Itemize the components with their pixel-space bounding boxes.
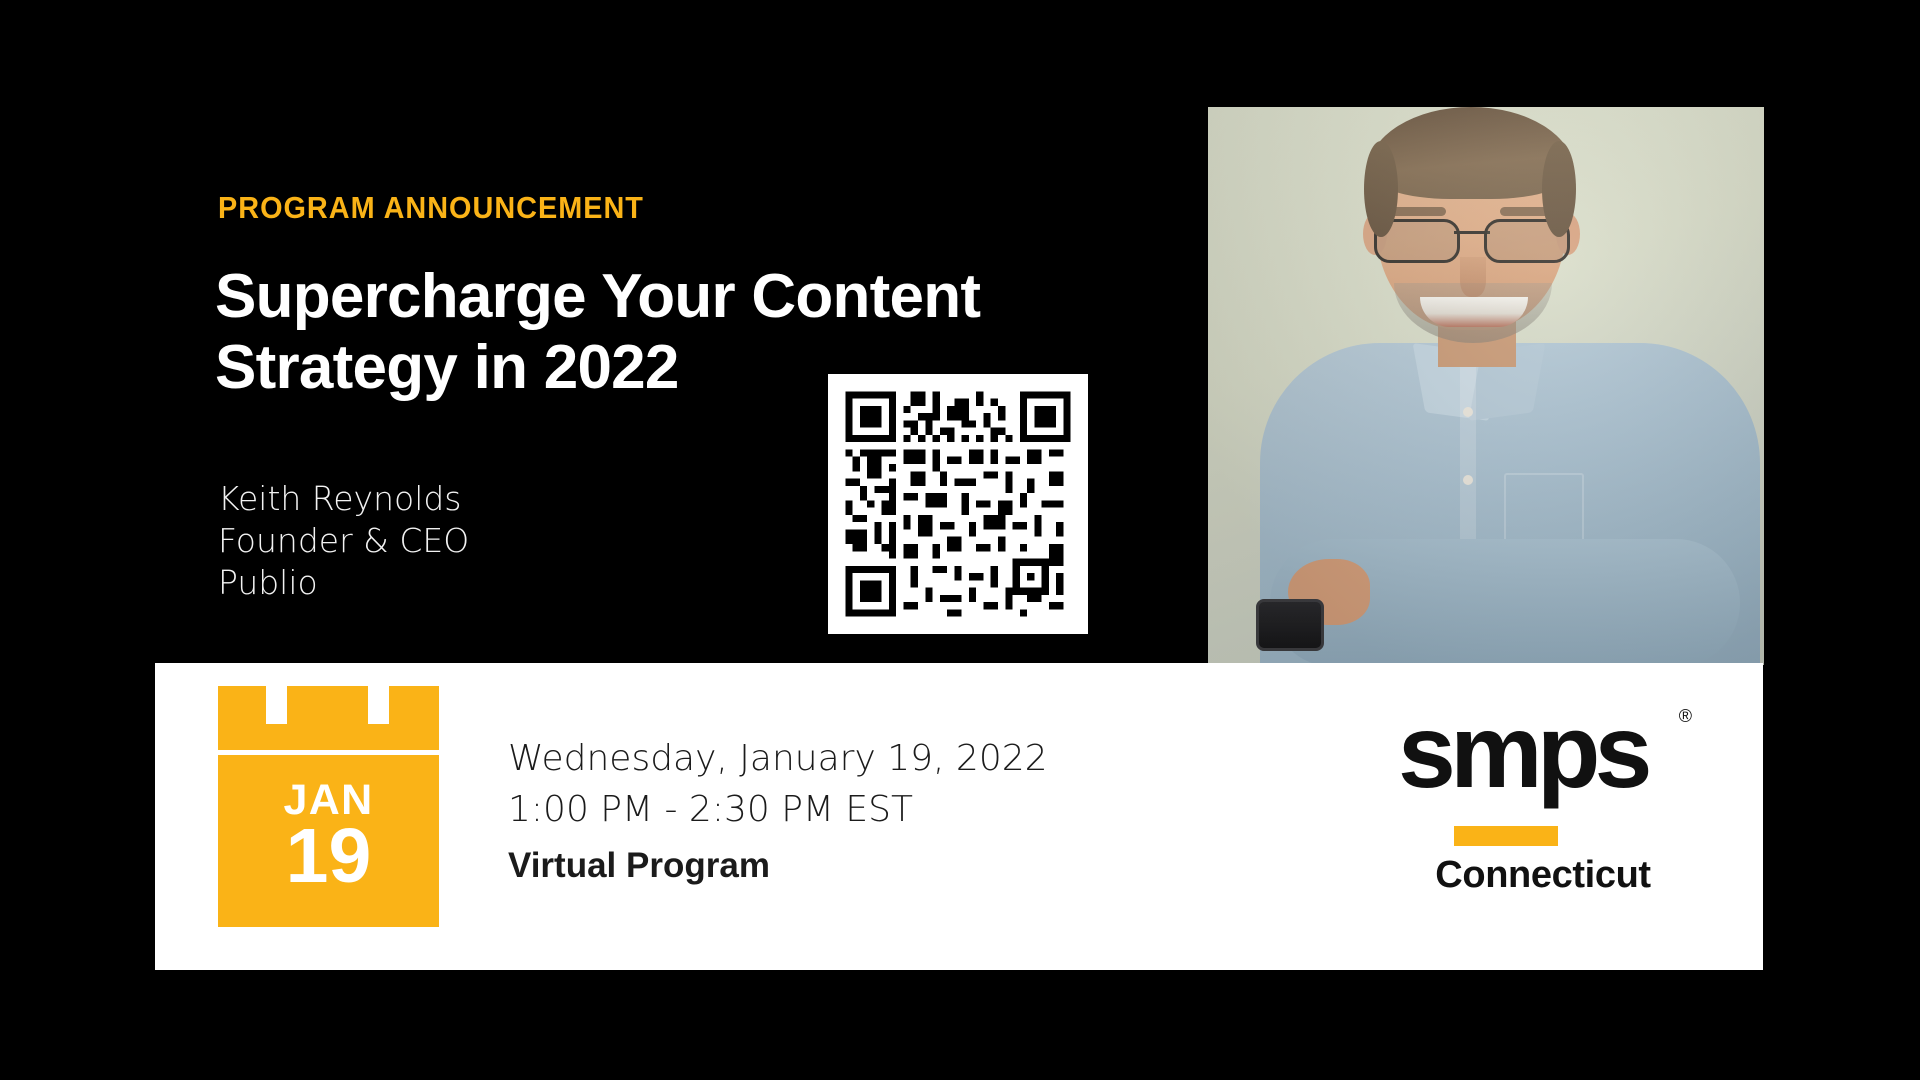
calendar-ring-left: [266, 668, 287, 724]
calendar-icon: JAN 19: [218, 686, 439, 927]
smps-wordmark-text: smps: [1398, 700, 1647, 804]
speaker-photo: [1208, 107, 1764, 665]
event-time: 1:00 PM - 2:30 PM EST: [508, 784, 1048, 835]
speaker-company: Publio: [218, 562, 469, 604]
calendar-day: 19: [218, 818, 439, 895]
calendar-ring-right: [368, 668, 389, 724]
qr-code-icon: [838, 384, 1078, 624]
event-format: Virtual Program: [508, 841, 1048, 891]
speaker-credit: Keith Reynolds Founder & CEO Publio: [218, 478, 469, 605]
speaker-name: Keith Reynolds: [218, 478, 469, 520]
speaker-title: Founder & CEO: [218, 520, 469, 562]
calendar-divider: [218, 750, 439, 755]
photo-lighting-overlay: [1208, 107, 1764, 665]
event-date: Wednesday, January 19, 2022: [508, 733, 1048, 784]
qr-code[interactable]: [828, 374, 1088, 634]
event-details: Wednesday, January 19, 2022 1:00 PM - 2:…: [508, 733, 1048, 891]
smps-chapter-name: Connecticut: [1398, 854, 1688, 897]
promo-graphic: PROGRAM ANNOUNCEMENT Supercharge Your Co…: [0, 0, 1920, 1080]
smps-accent-bar: [1454, 826, 1558, 846]
smps-connecticut-logo: smps ® Connecticut: [1398, 714, 1688, 914]
registered-trademark-icon: ®: [1679, 706, 1692, 727]
smps-wordmark: smps ®: [1398, 714, 1688, 818]
eyebrow-label: PROGRAM ANNOUNCEMENT: [218, 190, 644, 226]
